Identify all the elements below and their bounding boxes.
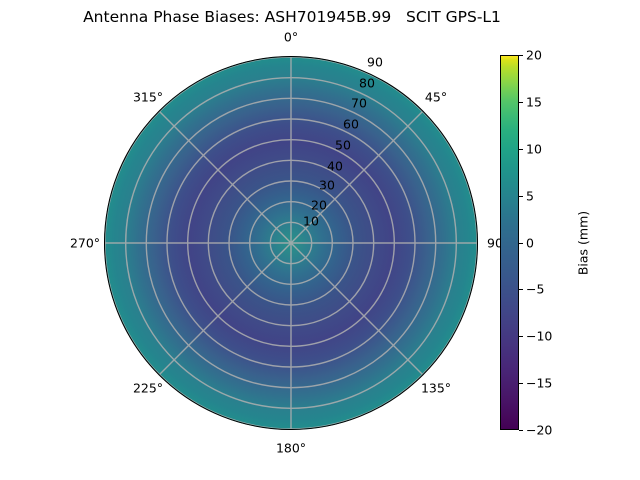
theta-tick-45: 45° bbox=[425, 90, 447, 105]
figure-canvas: Antenna Phase Biases: ASH701945B.99 SCIT… bbox=[0, 0, 640, 480]
colorbar-tick-15: 15 bbox=[526, 94, 542, 109]
colorbar-tick-0: 0 bbox=[526, 235, 534, 250]
colorbar-tick-10: 10 bbox=[526, 141, 542, 156]
theta-tick-180: 180° bbox=[276, 441, 306, 456]
r-tick-80: 80 bbox=[359, 76, 375, 91]
colorbar-tick-5: 5 bbox=[526, 188, 534, 203]
colorbar-gradient bbox=[500, 55, 519, 430]
theta-tick-315: 315° bbox=[133, 90, 163, 105]
bias-field-fill bbox=[104, 56, 478, 430]
colorbar: 20 15 10 5 0 −5 −10 −15 −20 bbox=[500, 55, 519, 430]
polar-heatmap-surface bbox=[104, 56, 478, 430]
colorbar-tick-mark bbox=[519, 430, 523, 431]
r-tick-20: 20 bbox=[311, 198, 327, 213]
colorbar-tick-mark bbox=[519, 243, 523, 244]
colorbar-tick-mark bbox=[519, 289, 523, 290]
r-tick-40: 40 bbox=[327, 159, 343, 174]
r-tick-30: 30 bbox=[319, 178, 335, 193]
colorbar-tick-neg10: −10 bbox=[526, 329, 552, 344]
colorbar-tick-mark bbox=[519, 102, 523, 103]
colorbar-tick-mark bbox=[519, 196, 523, 197]
r-tick-90: 90 bbox=[367, 55, 383, 70]
polar-axes: 10 20 30 40 50 60 70 80 90 bbox=[104, 56, 478, 430]
page-title: Antenna Phase Biases: ASH701945B.99 SCIT… bbox=[0, 8, 584, 26]
r-tick-60: 60 bbox=[343, 117, 359, 132]
r-tick-70: 70 bbox=[351, 96, 367, 111]
colorbar-tick-mark bbox=[519, 336, 523, 337]
theta-tick-0: 0° bbox=[284, 30, 298, 45]
colorbar-tick-neg15: −15 bbox=[526, 376, 552, 391]
colorbar-tick-mark bbox=[519, 383, 523, 384]
colorbar-tick-mark bbox=[519, 149, 523, 150]
r-tick-10: 10 bbox=[303, 214, 319, 229]
theta-tick-135: 135° bbox=[421, 381, 451, 396]
colorbar-tick-neg5: −5 bbox=[526, 282, 544, 297]
colorbar-tick-mark bbox=[519, 55, 523, 56]
theta-tick-225: 225° bbox=[133, 381, 163, 396]
colorbar-axis-label: Bias (mm) bbox=[576, 211, 591, 275]
colorbar-tick-neg20: −20 bbox=[526, 423, 552, 438]
colorbar-tick-20: 20 bbox=[526, 48, 542, 63]
r-tick-50: 50 bbox=[335, 138, 351, 153]
theta-tick-270: 270° bbox=[70, 236, 100, 251]
